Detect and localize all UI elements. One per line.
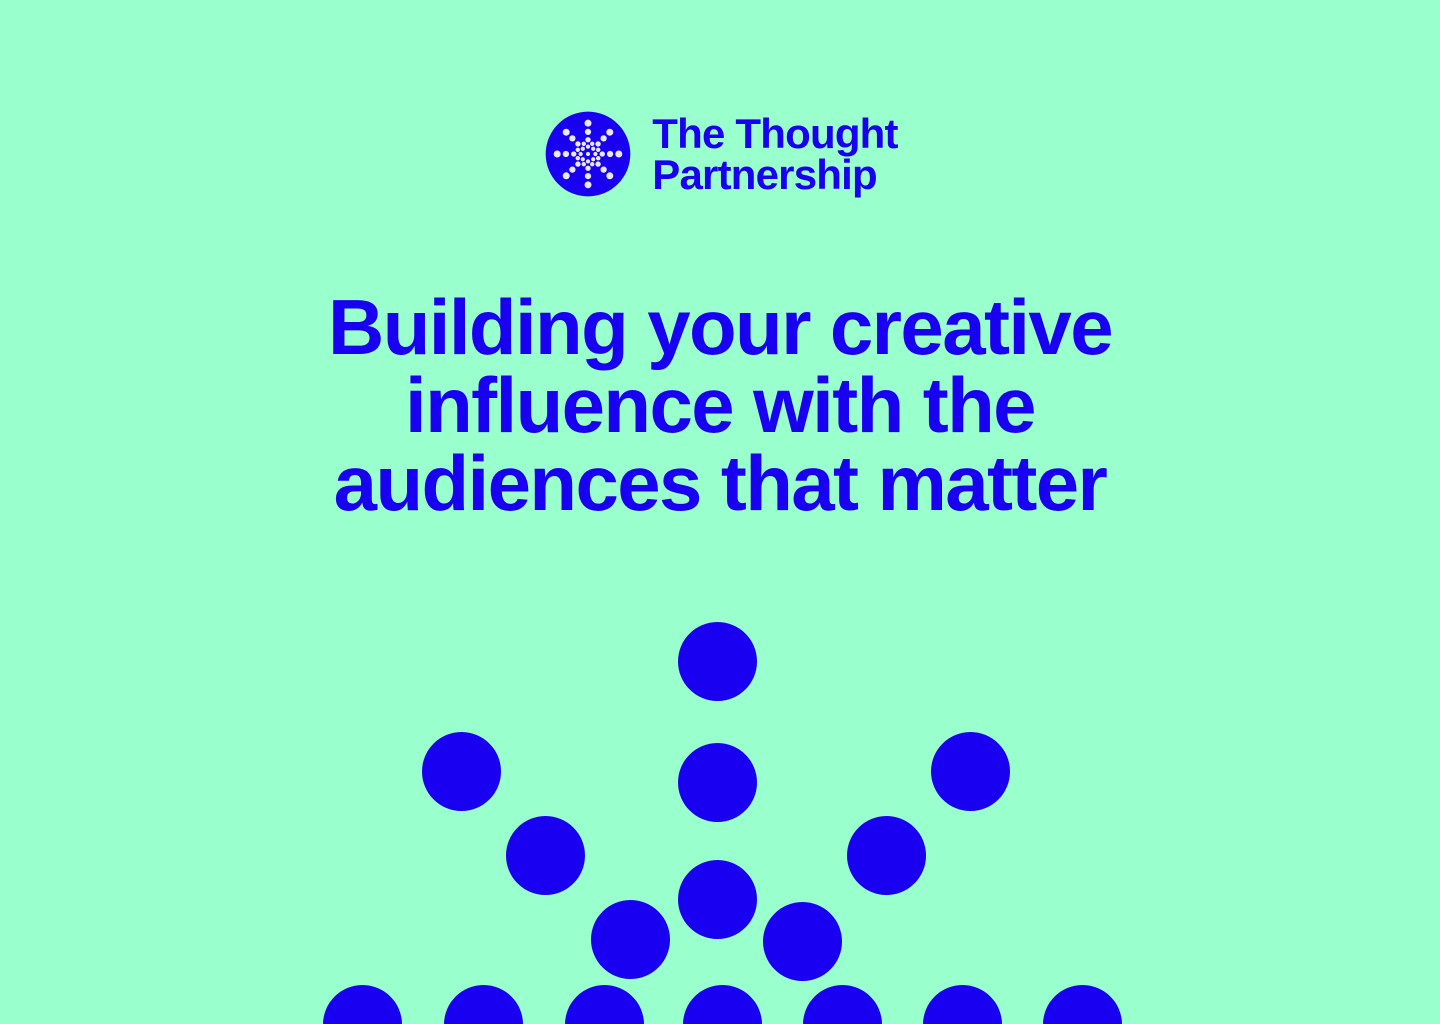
- decorative-dot: [565, 985, 644, 1024]
- decorative-dot: [923, 985, 1002, 1024]
- decorative-dot: [323, 985, 402, 1024]
- decorative-dot: [506, 816, 585, 895]
- brand-lockup: The Thought Partnership: [0, 108, 1440, 200]
- decorative-dot: [803, 985, 882, 1024]
- radial-starburst-dots-icon: [542, 108, 634, 200]
- brand-wordmark: The Thought Partnership: [652, 113, 897, 195]
- decorative-dot: [763, 902, 842, 981]
- decorative-dot: [1043, 985, 1122, 1024]
- decorative-dot: [678, 860, 757, 939]
- brand-wordmark-line-1: The Thought: [652, 113, 897, 154]
- presentation-slide: The Thought Partnership Building your cr…: [0, 0, 1440, 1024]
- brand-wordmark-line-2: Partnership: [652, 154, 897, 195]
- decorative-dot: [931, 732, 1010, 811]
- decorative-dot: [444, 985, 523, 1024]
- page-title: Building your creative influence with th…: [320, 288, 1120, 522]
- decorative-dot: [847, 816, 926, 895]
- decorative-dot: [683, 985, 762, 1024]
- decorative-dot: [591, 900, 670, 979]
- decorative-dot: [422, 732, 501, 811]
- decorative-dot: [678, 622, 757, 701]
- decorative-dot: [678, 743, 757, 822]
